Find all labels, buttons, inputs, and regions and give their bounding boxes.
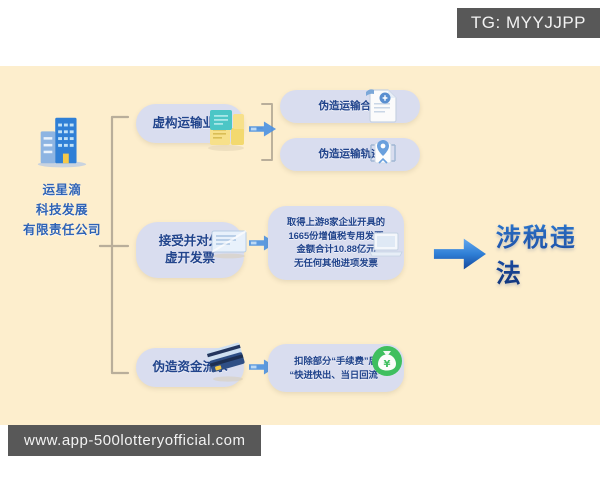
document-stack-icon [200, 104, 250, 154]
right-arrow-icon [432, 235, 488, 273]
flow-arrow-icon [249, 120, 277, 138]
url-watermark: www.app-500lotteryofficial.com [8, 425, 261, 456]
office-building-icon [31, 110, 93, 172]
map-pin-icon [362, 132, 404, 174]
money-bag-icon: ¥ [370, 344, 404, 378]
invoice-detail-line-3: 金额合计10.88亿元 [296, 244, 375, 254]
invoice-detail-line-4: 无任何其他进项发票 [294, 258, 378, 268]
invoice-detail-line-1: 取得上游8家企业开具的 [287, 217, 385, 227]
infographic-stage: 运星滴 科技发展 有限责任公司 虚构运输业务 伪造运输合同 [0, 0, 600, 480]
company-name-line-3: 有限责任公司 [23, 220, 101, 240]
cash-detail-line-2: “快进快出、当日回流” [290, 370, 383, 380]
laptop-icon [368, 228, 404, 262]
cash-detail-line-1: 扣除部分“手续费”后 [294, 356, 378, 366]
company-name-line-1: 运星滴 [23, 180, 101, 200]
contract-document-icon [362, 84, 404, 126]
company-name: 运星滴 科技发展 有限责任公司 [23, 180, 101, 240]
company-name-line-2: 科技发展 [23, 200, 101, 220]
result-label: 涉税违法 [496, 218, 600, 290]
company-block: 运星滴 科技发展 有限责任公司 [12, 110, 112, 240]
credit-card-icon [202, 342, 254, 384]
telegram-watermark: TG: MYYJJPP [457, 8, 600, 38]
invoice-icon [206, 226, 252, 260]
result-block: 涉税违法 [432, 218, 600, 290]
svg-text:¥: ¥ [384, 359, 391, 370]
